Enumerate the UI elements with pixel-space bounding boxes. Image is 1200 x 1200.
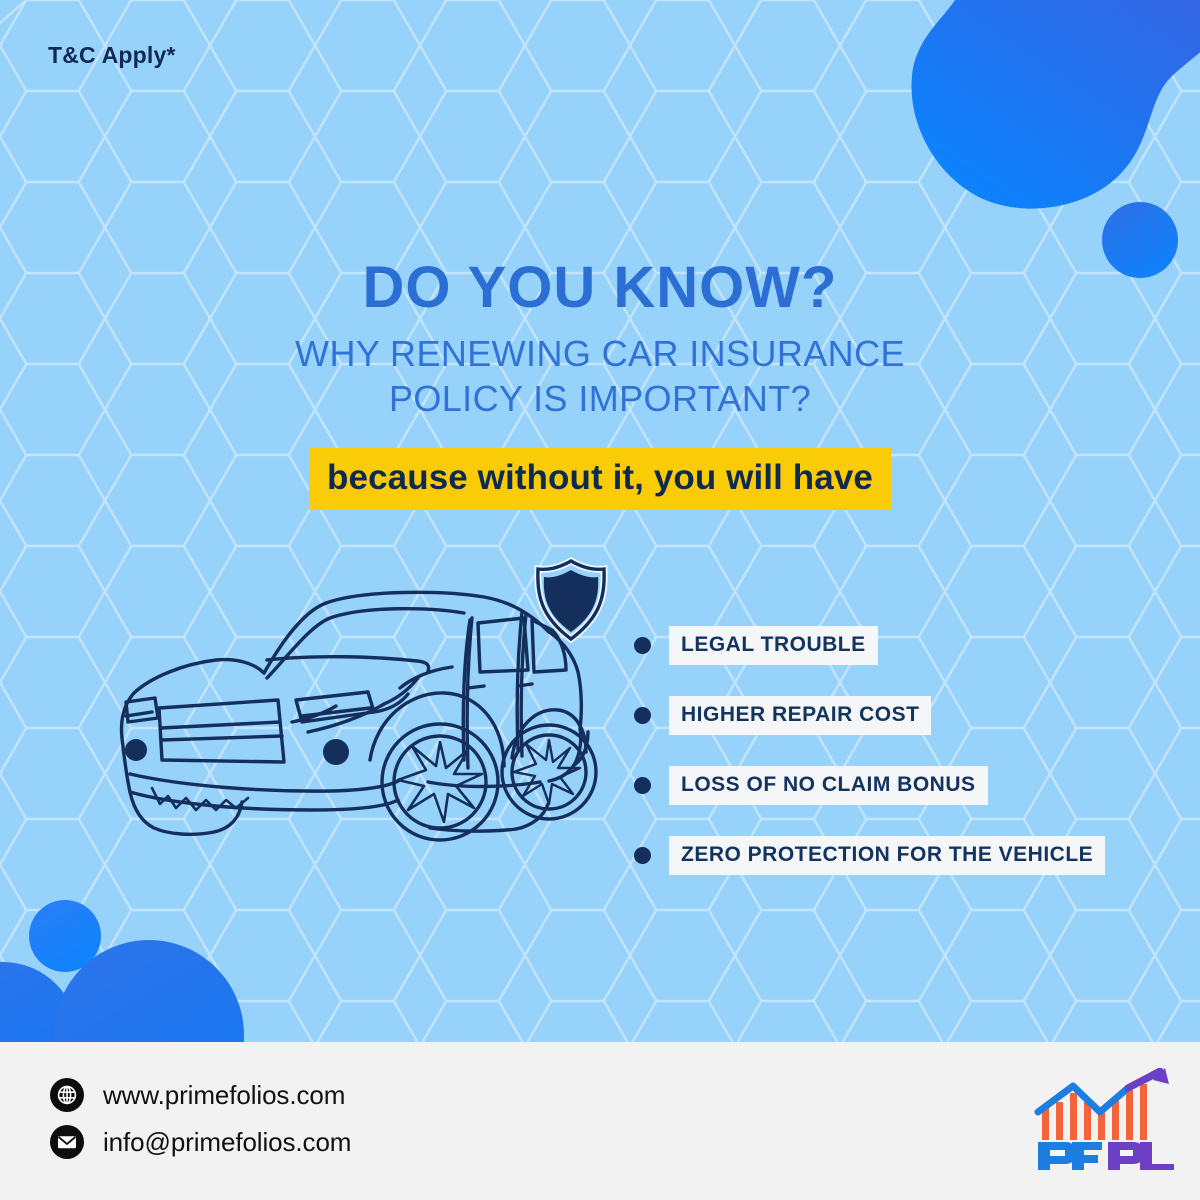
contact-block: www.primefolios.com info@primefolios.com xyxy=(50,1078,351,1172)
list-item[interactable]: LOSS OF NO CLAIM BONUS xyxy=(634,766,1104,805)
page-subtitle: WHY RENEWING CAR INSURANCE POLICY IS IMP… xyxy=(0,332,1200,421)
risk-label: HIGHER REPAIR COST xyxy=(669,696,931,735)
list-item[interactable]: HIGHER REPAIR COST xyxy=(634,696,1104,735)
bullet-dot-icon xyxy=(634,707,651,724)
logo-wordmark xyxy=(1038,1142,1174,1170)
list-item[interactable]: ZERO PROTECTION FOR THE VEHICLE xyxy=(634,836,1104,875)
page-subtitle-line-2: POLICY IS IMPORTANT? xyxy=(0,377,1200,422)
contact-website[interactable]: www.primefolios.com xyxy=(50,1078,351,1112)
shield-icon xyxy=(532,556,610,646)
headline-group: DO YOU KNOW? WHY RENEWING CAR INSURANCE … xyxy=(0,258,1200,422)
bullet-dot-icon xyxy=(634,847,651,864)
decorative-blob-top-right xyxy=(900,0,1200,240)
risk-label: ZERO PROTECTION FOR THE VEHICLE xyxy=(669,836,1105,875)
contact-email[interactable]: info@primefolios.com xyxy=(50,1125,351,1159)
globe-icon xyxy=(50,1078,84,1112)
brand-logo[interactable]: PRIME FOLIOS PVT LTD xyxy=(1028,1068,1184,1170)
page-subtitle-line-1: WHY RENEWING CAR INSURANCE xyxy=(0,332,1200,377)
highlight-banner: because without it, you will have xyxy=(309,448,891,510)
envelope-icon xyxy=(50,1125,84,1159)
poster-canvas: T&C Apply* DO YOU KNOW? WHY RENEWING CAR… xyxy=(0,0,1200,1200)
risk-label: LOSS OF NO CLAIM BONUS xyxy=(669,766,988,805)
email-text: info@primefolios.com xyxy=(103,1127,351,1158)
website-text: www.primefolios.com xyxy=(103,1080,345,1111)
risk-label: LEGAL TROUBLE xyxy=(669,626,878,665)
poster-stage: T&C Apply* DO YOU KNOW? WHY RENEWING CAR… xyxy=(0,0,1200,1042)
terms-and-conditions-note: T&C Apply* xyxy=(48,42,176,69)
bullet-dot-icon xyxy=(634,637,651,654)
bullet-dot-icon xyxy=(634,777,651,794)
risk-list: LEGAL TROUBLE HIGHER REPAIR COST LOSS OF… xyxy=(634,626,1104,906)
highlight-banner-wrap: because without it, you will have xyxy=(0,448,1200,510)
page-title: DO YOU KNOW? xyxy=(0,258,1200,318)
growth-chart-icon xyxy=(1042,1084,1147,1140)
list-item[interactable]: LEGAL TROUBLE xyxy=(634,626,1104,665)
